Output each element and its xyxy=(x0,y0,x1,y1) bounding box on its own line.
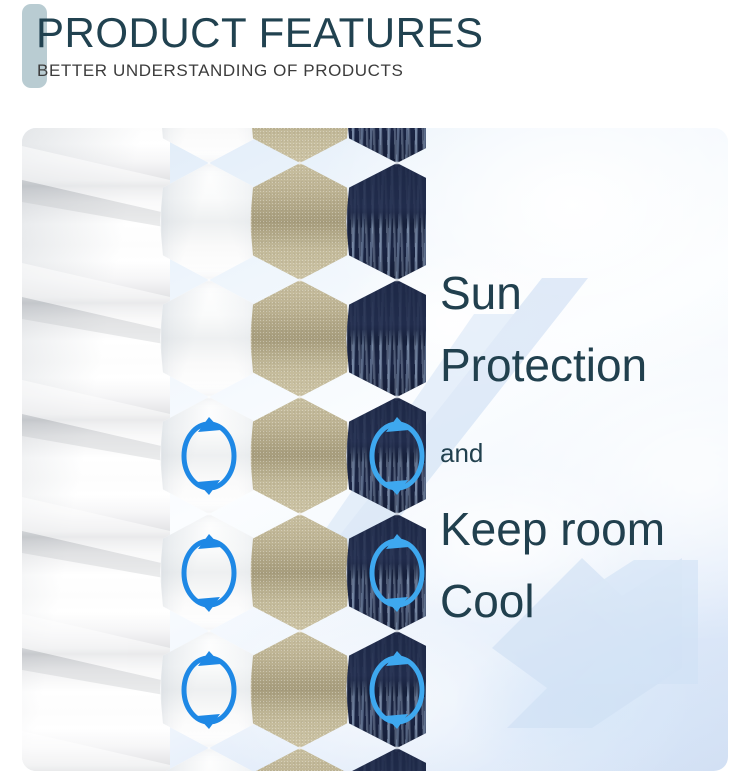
honeycomb-cell xyxy=(160,397,258,514)
navy-cell-column xyxy=(346,128,426,771)
page-subtitle: BETTER UNDERSTANDING OF PRODUCTS xyxy=(37,60,403,82)
hero-text-line-3: and xyxy=(440,440,483,466)
honeycomb-cell xyxy=(250,163,350,280)
pleat-shading xyxy=(22,128,170,771)
air-circulation-icon xyxy=(178,651,240,729)
honeycomb-cell xyxy=(250,280,350,397)
honeycomb-cell xyxy=(250,128,350,163)
hero-text-line-2: Protection xyxy=(440,342,647,388)
hero-text-line-1: Sun xyxy=(440,270,522,316)
hero-text-line-4: Keep room xyxy=(440,506,665,552)
beige-cell-column xyxy=(250,128,350,771)
air-circulation-icon xyxy=(366,651,426,729)
air-circulation-icon xyxy=(178,417,240,495)
honeycomb-cell xyxy=(346,748,426,771)
hero-text-line-5: Cool xyxy=(440,578,535,624)
honeycomb-blind xyxy=(22,128,426,771)
honeycomb-cell xyxy=(160,128,258,163)
honeycomb-cell xyxy=(160,631,258,748)
honeycomb-cell xyxy=(346,280,426,397)
page-title: PRODUCT FEATURES xyxy=(36,8,483,58)
honeycomb-cell xyxy=(160,514,258,631)
honeycomb-cell xyxy=(160,748,258,771)
honeycomb-cell xyxy=(346,128,426,163)
honeycomb-cell xyxy=(346,514,426,631)
air-circulation-icon xyxy=(366,534,426,612)
honeycomb-cell xyxy=(160,280,258,397)
white-cell-column xyxy=(160,128,258,771)
honeycomb-cell xyxy=(250,397,350,514)
honeycomb-cell xyxy=(250,748,350,771)
product-feature-image: Sun Protection and Keep room Cool xyxy=(22,128,728,771)
honeycomb-cell xyxy=(346,397,426,514)
page-header: PRODUCT FEATURES BETTER UNDERSTANDING OF… xyxy=(0,0,750,110)
honeycomb-cell xyxy=(250,631,350,748)
honeycomb-cell xyxy=(160,163,258,280)
hero-text-block: Sun Protection and Keep room Cool xyxy=(440,128,728,771)
honeycomb-cell xyxy=(346,163,426,280)
honeycomb-cell xyxy=(346,631,426,748)
honeycomb-cell xyxy=(250,514,350,631)
air-circulation-icon xyxy=(366,417,426,495)
air-circulation-icon xyxy=(178,534,240,612)
